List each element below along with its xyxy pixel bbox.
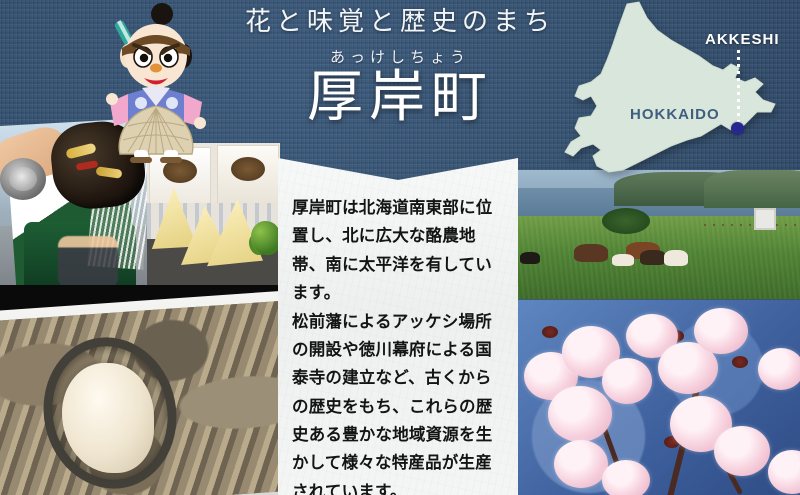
description-paragraph-2: 松前藩によるアッケシ場所の開設や徳川幕府による国泰寺の建立など、古くからの歴史を…	[292, 308, 506, 495]
map-location-marker	[731, 122, 744, 135]
tagline: 花と味覚と歴史のまち	[210, 8, 590, 37]
description-paragraph-1: 厚岸町は北海道南東部に位置し、北に広大な酪農地帯、南に太平洋を有しています。	[292, 194, 506, 308]
town-name-furigana: あっけしちょう	[210, 46, 590, 67]
horses-coastal-pasture-photo	[518, 170, 800, 299]
map-label-hokkaido: HOKKAIDO	[630, 106, 720, 123]
poster-canvas: 花と味覚と歴史のまち あっけしちょう 厚岸町 HOKKAIDO AKKESHI …	[0, 0, 800, 495]
description-panel: 厚岸町は北海道南東部に位置し、北に広大な酪農地帯、南に太平洋を有しています。 松…	[278, 158, 518, 495]
cheese-wedges-photo	[147, 143, 280, 286]
map-leader-line	[737, 50, 740, 125]
akkeshi-mascot-character	[98, 2, 214, 164]
poster-header: 花と味覚と歴史のまち あっけしちょう 厚岸町	[210, 8, 590, 127]
oysters-in-tray-photo	[0, 285, 280, 495]
town-name: 厚岸町	[210, 69, 590, 128]
cherry-blossom-photo	[518, 300, 800, 495]
map-label-akkeshi: AKKESHI	[705, 31, 780, 48]
description-text: 厚岸町は北海道南東部に位置し、北に広大な酪農地帯、南に太平洋を有しています。 松…	[292, 194, 506, 495]
